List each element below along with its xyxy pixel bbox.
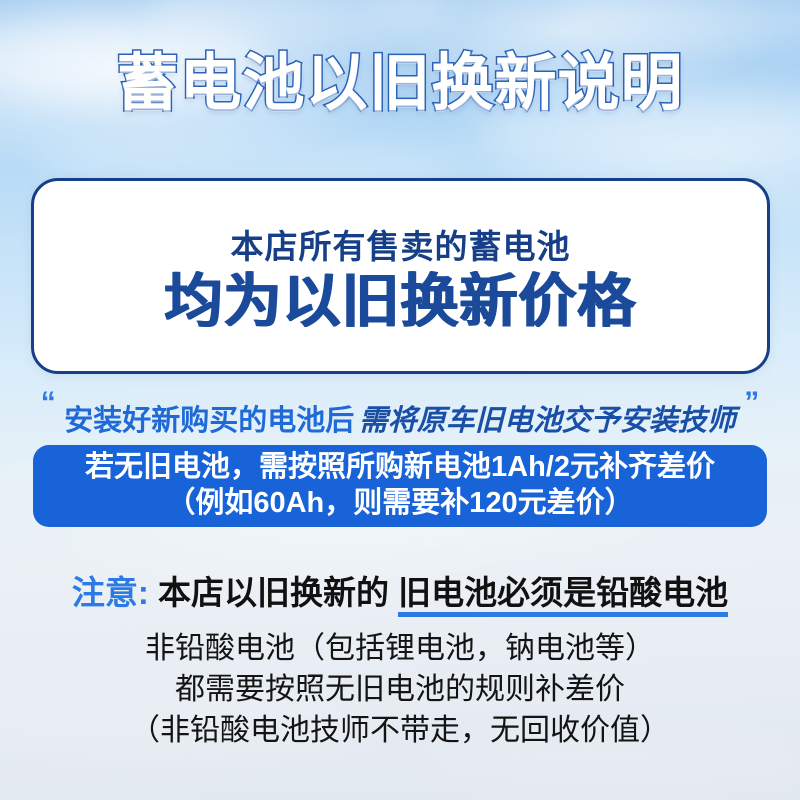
headline-card-line-2: 均为以旧换新价格 <box>164 270 636 335</box>
quote-banner: “ 安装好新购买的电池后 需将原车旧电池交予安装技师 ” <box>0 388 800 439</box>
poster-canvas: 蓄电池以旧换新说明 本店所有售卖的蓄电池 均为以旧换新价格 “ 安装好新购买的电… <box>0 0 800 800</box>
page-title: 蓄电池以旧换新说明 <box>0 52 800 115</box>
notice-headline-plain: 本店以旧换新的 <box>158 574 389 611</box>
cloud-wisp-5 <box>560 0 800 50</box>
cloud-wisp-2 <box>150 0 450 45</box>
headline-card-line-1: 本店所有售卖的蓄电池 <box>231 220 571 268</box>
open-quote-icon: “ <box>41 386 56 419</box>
close-quote-icon: ” <box>744 386 759 419</box>
notice-body: 非铅酸电池（包括锂电池，钠电池等） 都需要按照无旧电池的规则补差价 （非铅酸电池… <box>0 628 800 751</box>
surcharge-callout-line-2: （例如60Ah，则需要补120元差价） <box>166 485 633 523</box>
surcharge-callout-box: 若无旧电池，需按照所购新电池1Ah/2元补齐差价 （例如60Ah，则需要补120… <box>33 445 767 527</box>
notice-headline-underlined: 旧电池必须是铅酸电池 <box>398 574 728 617</box>
surcharge-callout-line-1: 若无旧电池，需按照所购新电池1Ah/2元补齐差价 <box>85 449 715 485</box>
notice-body-line-2: 都需要按照无旧电池的规则补差价 <box>0 669 800 710</box>
notice-body-line-3: （非铅酸电池技师不带走，无回收价值） <box>0 710 800 751</box>
quote-text-normal: 安装好新购买的电池后 <box>64 405 354 437</box>
page-title-text: 蓄电池以旧换新说明 <box>116 52 683 115</box>
notice-section: 注意: 本店以旧换新的 旧电池必须是铅酸电池 非铅酸电池（包括锂电池，钠电池等）… <box>0 572 800 751</box>
quote-text-emphasis: 需将原车旧电池交予安装技师 <box>359 405 736 437</box>
notice-headline: 注意: 本店以旧换新的 旧电池必须是铅酸电池 <box>0 572 800 615</box>
headline-card: 本店所有售卖的蓄电池 均为以旧换新价格 <box>31 178 770 374</box>
notice-body-line-1: 非铅酸电池（包括锂电池，钠电池等） <box>0 628 800 669</box>
notice-label: 注意: <box>72 574 149 611</box>
